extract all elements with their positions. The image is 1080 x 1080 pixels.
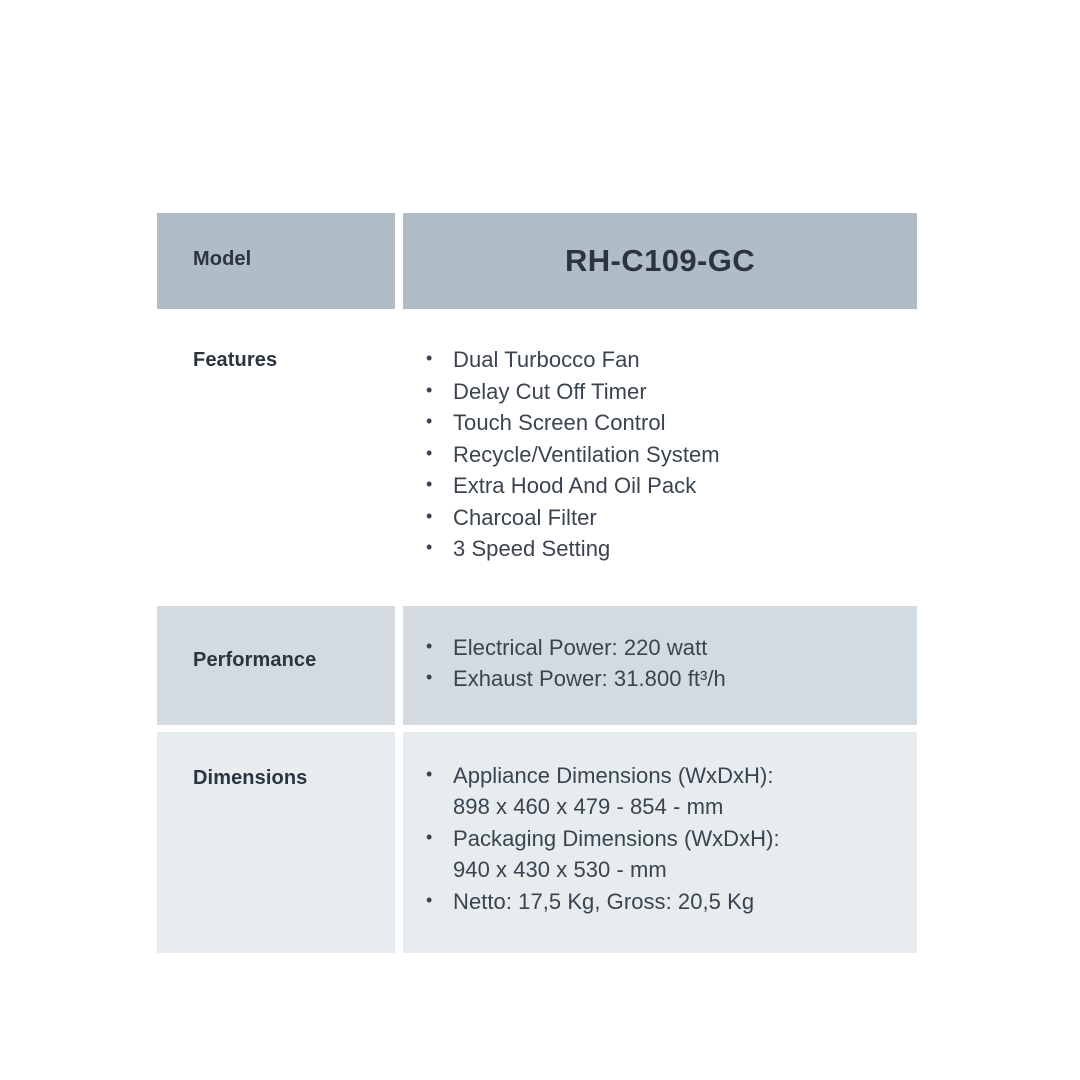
list-item: Delay Cut Off Timer <box>403 376 917 408</box>
row-divider <box>157 725 917 732</box>
specification-table: Model RH-C109-GC Features Dual Turbocco … <box>157 213 917 953</box>
row-divider <box>157 309 917 316</box>
row-label-cell-model: Model <box>157 213 395 309</box>
list-item-line: 940 x 430 x 530 - mm <box>453 854 917 886</box>
list-item-line: Packaging Dimensions (WxDxH): <box>453 823 917 855</box>
row-value-cell-dimensions: Appliance Dimensions (WxDxH): 898 x 460 … <box>403 732 917 954</box>
table-row-model: Model RH-C109-GC <box>157 213 917 309</box>
list-item-line: Appliance Dimensions (WxDxH): <box>453 760 917 792</box>
features-list: Dual Turbocco Fan Delay Cut Off Timer To… <box>403 344 917 565</box>
list-item: Packaging Dimensions (WxDxH): 940 x 430 … <box>403 823 917 886</box>
list-item: Electrical Power: 220 watt <box>403 632 917 664</box>
performance-list: Electrical Power: 220 watt Exhaust Power… <box>403 632 917 695</box>
dimensions-list: Appliance Dimensions (WxDxH): 898 x 460 … <box>403 760 917 918</box>
row-label-cell-features: Features <box>157 316 395 599</box>
list-item: Netto: 17,5 Kg, Gross: 20,5 Kg <box>403 886 917 918</box>
list-item-line: 898 x 460 x 479 - 854 - mm <box>453 791 917 823</box>
row-label-features: Features <box>193 348 395 372</box>
row-label-cell-dimensions: Dimensions <box>157 732 395 954</box>
list-item: Touch Screen Control <box>403 407 917 439</box>
row-value-cell-features: Dual Turbocco Fan Delay Cut Off Timer To… <box>403 316 917 599</box>
model-number: RH-C109-GC <box>565 243 755 279</box>
table-row-performance: Performance Electrical Power: 220 watt E… <box>157 606 917 725</box>
list-item: Dual Turbocco Fan <box>403 344 917 376</box>
list-item: Recycle/Ventilation System <box>403 439 917 471</box>
table-row-features: Features Dual Turbocco Fan Delay Cut Off… <box>157 316 917 599</box>
row-label-dimensions: Dimensions <box>193 766 395 790</box>
row-value-cell-performance: Electrical Power: 220 watt Exhaust Power… <box>403 606 917 725</box>
row-value-cell-model: RH-C109-GC <box>403 213 917 309</box>
list-item: Extra Hood And Oil Pack <box>403 470 917 502</box>
row-label-cell-performance: Performance <box>157 606 395 725</box>
row-divider <box>157 599 917 606</box>
row-label-model: Model <box>193 247 395 271</box>
list-item: Exhaust Power: 31.800 ft³/h <box>403 663 917 695</box>
row-label-performance: Performance <box>193 648 395 672</box>
list-item: 3 Speed Setting <box>403 533 917 565</box>
list-item-line: Netto: 17,5 Kg, Gross: 20,5 Kg <box>453 886 917 918</box>
list-item: Appliance Dimensions (WxDxH): 898 x 460 … <box>403 760 917 823</box>
table-row-dimensions: Dimensions Appliance Dimensions (WxDxH):… <box>157 732 917 954</box>
list-item: Charcoal Filter <box>403 502 917 534</box>
